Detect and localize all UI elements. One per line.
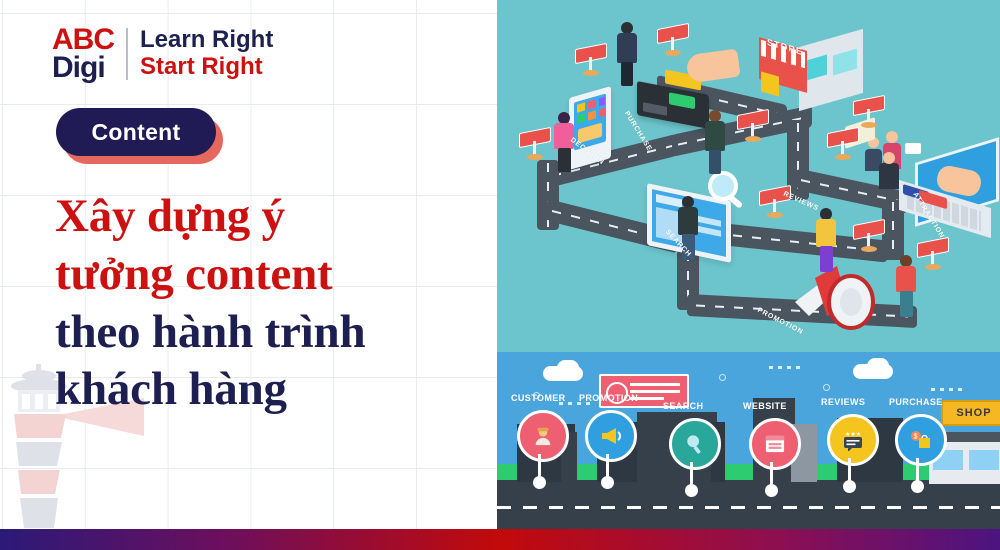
direction-sign	[827, 130, 861, 160]
headline-line-2: tưởng content	[55, 246, 485, 304]
direction-sign	[917, 240, 951, 270]
customer-journey-illustration: STORE	[497, 0, 1000, 352]
direction-sign	[575, 46, 609, 76]
dots-decoration	[769, 366, 805, 369]
marker-purchase-label: PURCHASE	[889, 397, 943, 407]
city-journey-illustration: SHOP CUSTOMER PROMOTION SEARCH	[497, 352, 1000, 534]
marker-promotion-label: PROMOTION	[579, 393, 638, 403]
direction-sign	[853, 222, 887, 252]
browser-window-icon	[749, 418, 801, 470]
brand-logo[interactable]: ABC Digi Learn Right Start Right	[52, 24, 273, 84]
cloud-icon	[867, 358, 889, 374]
direction-sign	[853, 98, 887, 128]
tagline-line-2: Start Right	[140, 54, 273, 81]
logo-abc-text: ABC	[52, 26, 114, 55]
marker-search-label: SEARCH	[663, 401, 703, 411]
logo-digi-text: Digi	[52, 54, 114, 83]
magnifier-icon	[669, 418, 721, 470]
direction-sign	[657, 26, 691, 56]
headline-line-1: Xây dựng ý	[55, 188, 485, 246]
speech-bubble-icon: ★★★	[827, 414, 879, 466]
content-badge-label: Content	[56, 108, 216, 156]
logo-wordmark: ABC Digi	[52, 26, 126, 83]
person-icon	[517, 410, 569, 462]
logo-divider	[126, 28, 128, 80]
page-title: Xây dựng ý tưởng content theo hành trình…	[55, 188, 485, 419]
street-strip	[497, 480, 1000, 534]
shopping-bag-icon: $	[895, 414, 947, 466]
shop-sign: SHOP	[941, 400, 1000, 426]
tagline-line-1: Learn Right	[140, 27, 273, 54]
logo-tagline: Learn Right Start Right	[140, 27, 273, 81]
headline-line-3: theo hành trình	[55, 304, 485, 362]
marker-website-label: WEBSITE	[743, 401, 787, 411]
cloud-icon	[557, 360, 579, 376]
footer-gradient-bar	[0, 529, 1000, 550]
headline-line-4: khách hàng	[55, 361, 485, 419]
magnifier-icon	[705, 168, 749, 212]
left-content-panel: ABC Digi Learn Right Start Right Content…	[0, 0, 497, 534]
store-building: STORE	[759, 30, 863, 112]
direction-sign	[519, 130, 553, 160]
marker-customer-label: CUSTOMER	[511, 393, 566, 403]
dots-decoration	[931, 388, 967, 391]
megaphone-icon	[585, 410, 637, 462]
banner-canvas: ABC Digi Learn Right Start Right Content…	[0, 0, 1000, 550]
speck-icon	[823, 384, 830, 391]
speck-icon	[719, 374, 726, 381]
megaphone-icon	[787, 258, 891, 334]
svg-text:$: $	[914, 434, 918, 441]
marker-reviews-label: REVIEWS	[821, 397, 865, 407]
reviewers-group	[865, 135, 917, 193]
hand-icon	[685, 49, 740, 84]
svg-text:★★★: ★★★	[845, 431, 861, 438]
direction-sign	[737, 112, 771, 142]
illustration-panel: STORE	[497, 0, 1000, 534]
content-badge[interactable]: Content	[56, 108, 216, 156]
